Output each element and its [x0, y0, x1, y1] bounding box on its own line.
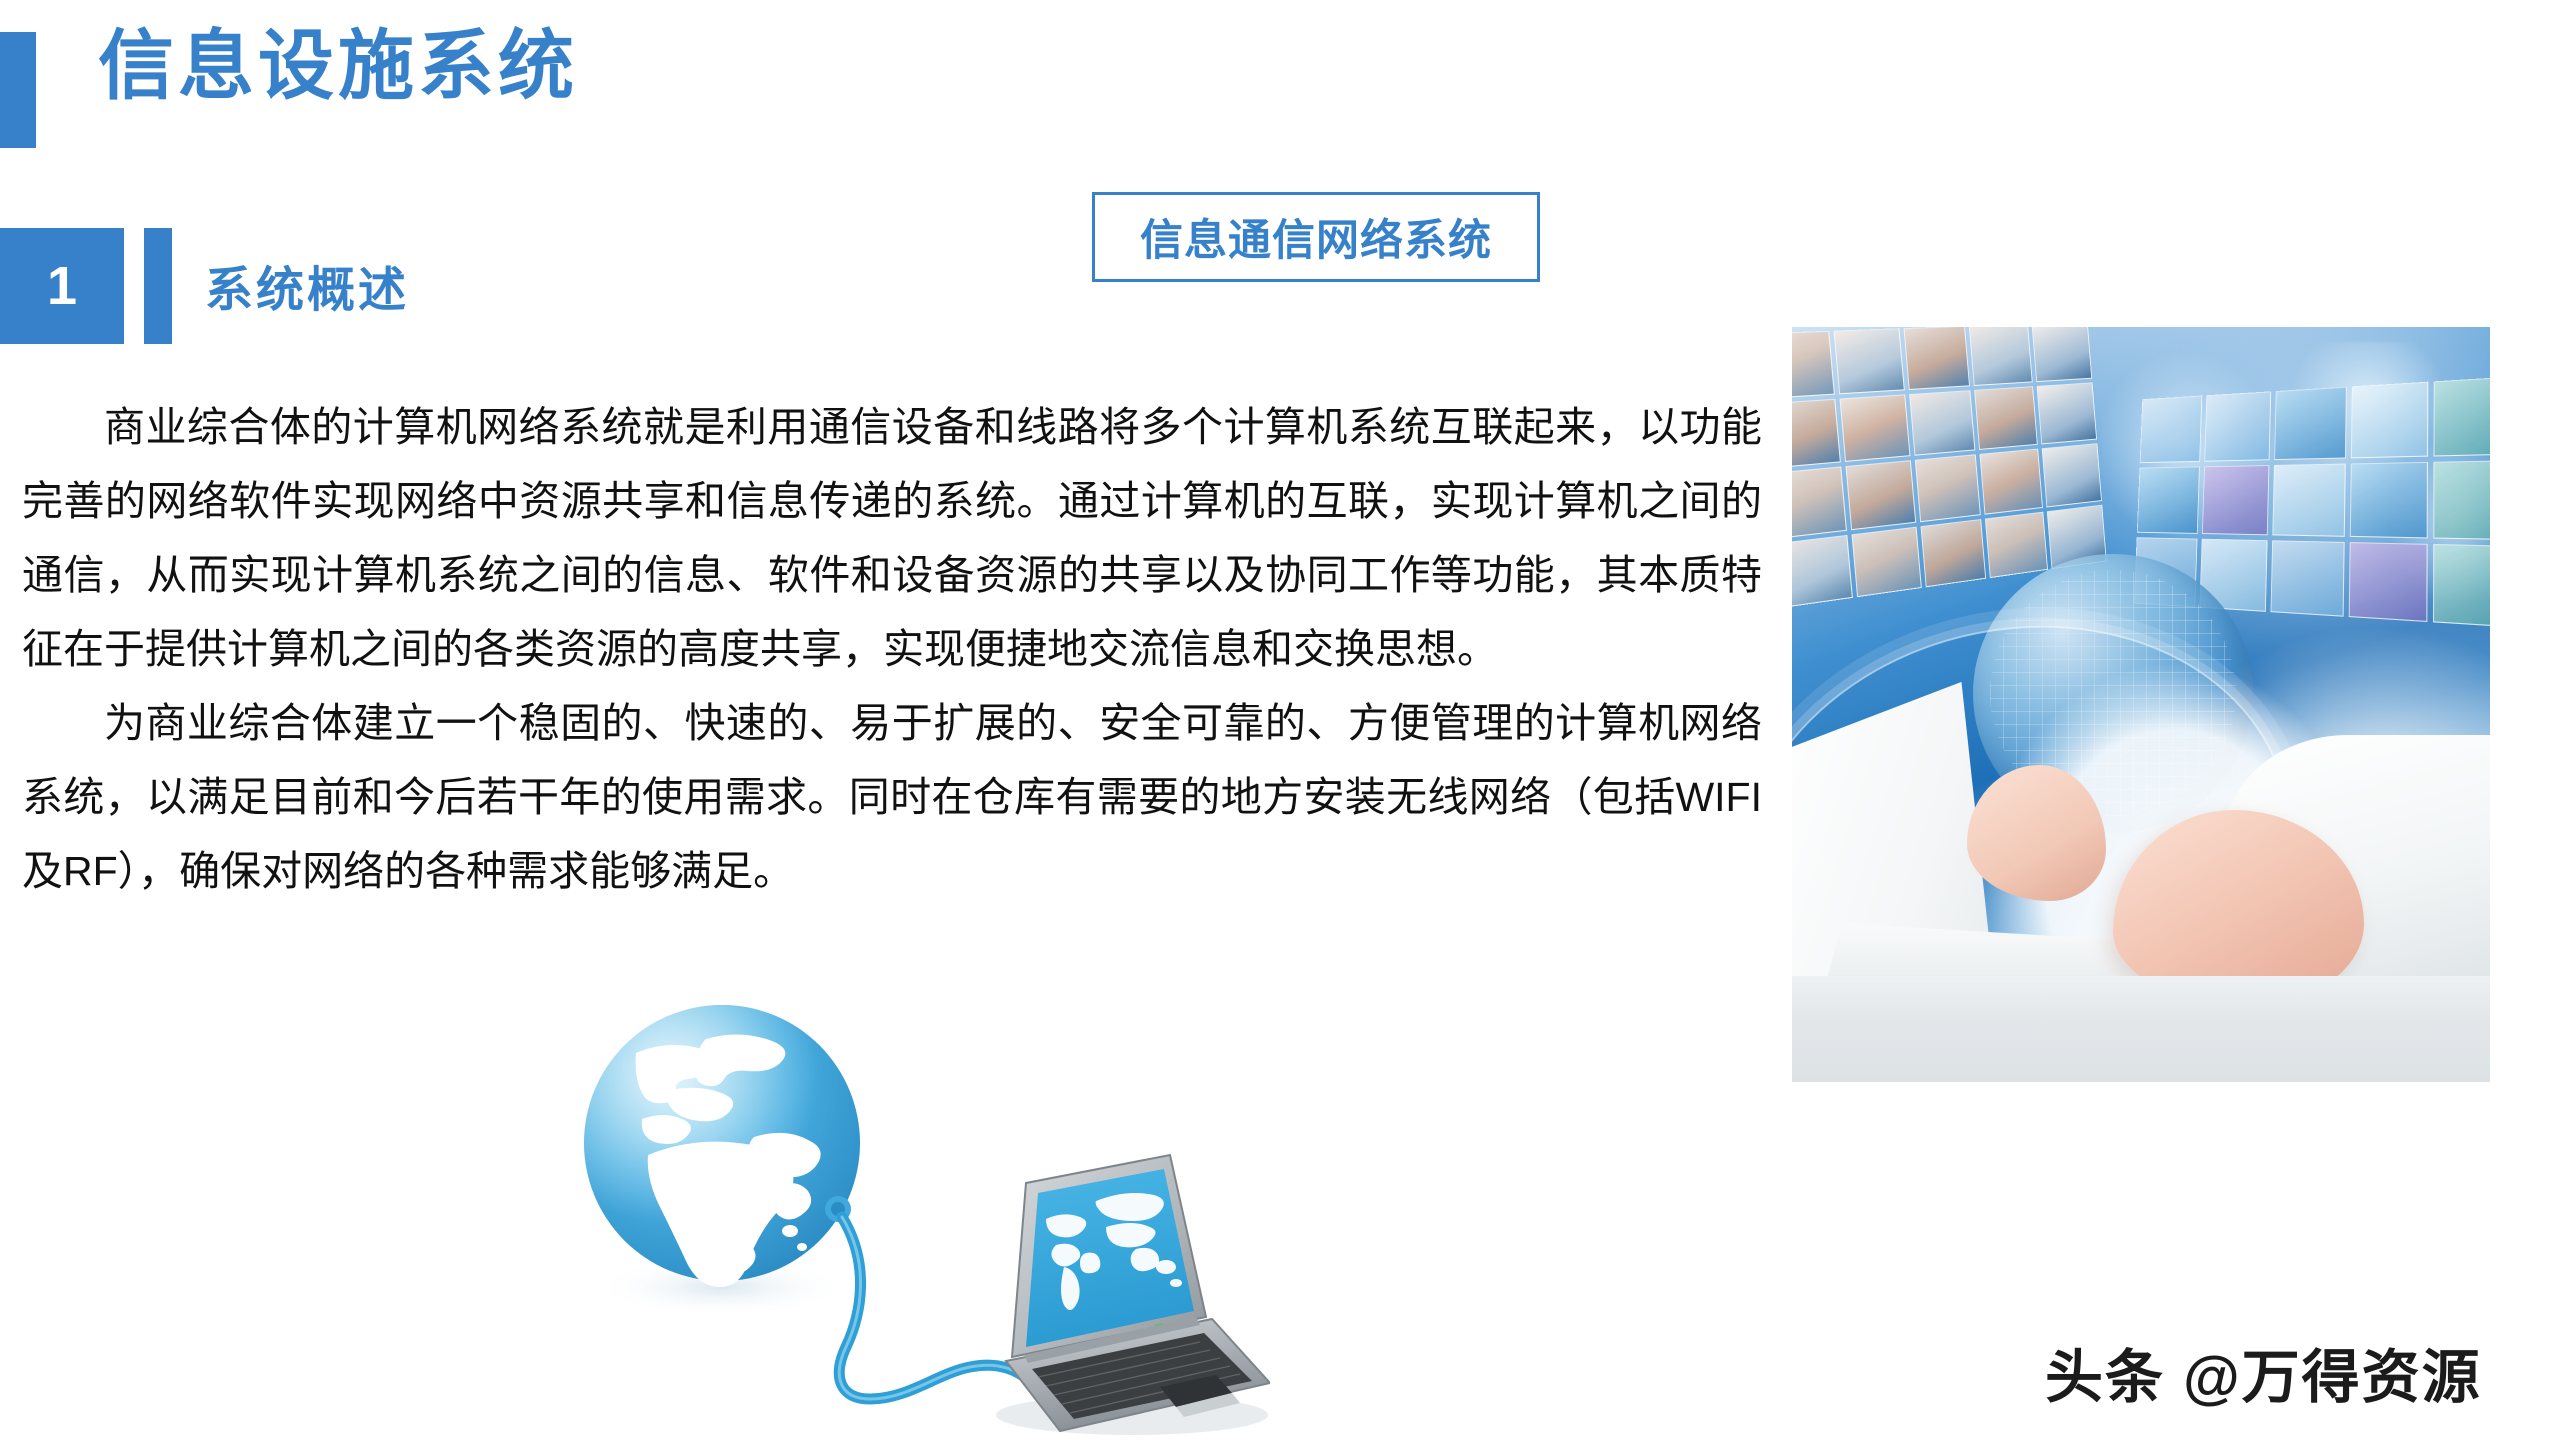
section-number-text: 1 [47, 259, 77, 313]
network-cable [839, 1217, 1030, 1399]
slide-root: 信息设施系统 1 系统概述 信息通信网络系统 商业综合体的计算机网络系统就是利用… [0, 0, 2560, 1440]
globe-laptop-illustration [540, 995, 1270, 1440]
network-photo [1792, 327, 2490, 1082]
boxed-subtitle-text: 信息通信网络系统 [1140, 206, 1492, 268]
section-divider-bar [144, 228, 172, 344]
watermark: 头条 @万得资源 [2045, 1330, 2482, 1414]
body-paragraph-2: 为商业综合体建立一个稳固的、快速的、易于扩展的、安全可靠的、方便管理的计算机网络… [22, 686, 1762, 908]
boxed-subtitle: 信息通信网络系统 [1092, 192, 1540, 282]
header-accent-bar [0, 32, 36, 148]
page-title: 信息设施系统 [98, 16, 578, 119]
photo-desk-surface [1792, 976, 2490, 1082]
section-number-badge: 1 [0, 228, 124, 344]
section-label: 系统概述 [205, 250, 409, 320]
body-paragraph-1: 商业综合体的计算机网络系统就是利用通信设备和线路将多个计算机系统互联起来，以功能… [22, 390, 1762, 686]
body-copy: 商业综合体的计算机网络系统就是利用通信设备和线路将多个计算机系统互联起来，以功能… [22, 390, 1762, 908]
